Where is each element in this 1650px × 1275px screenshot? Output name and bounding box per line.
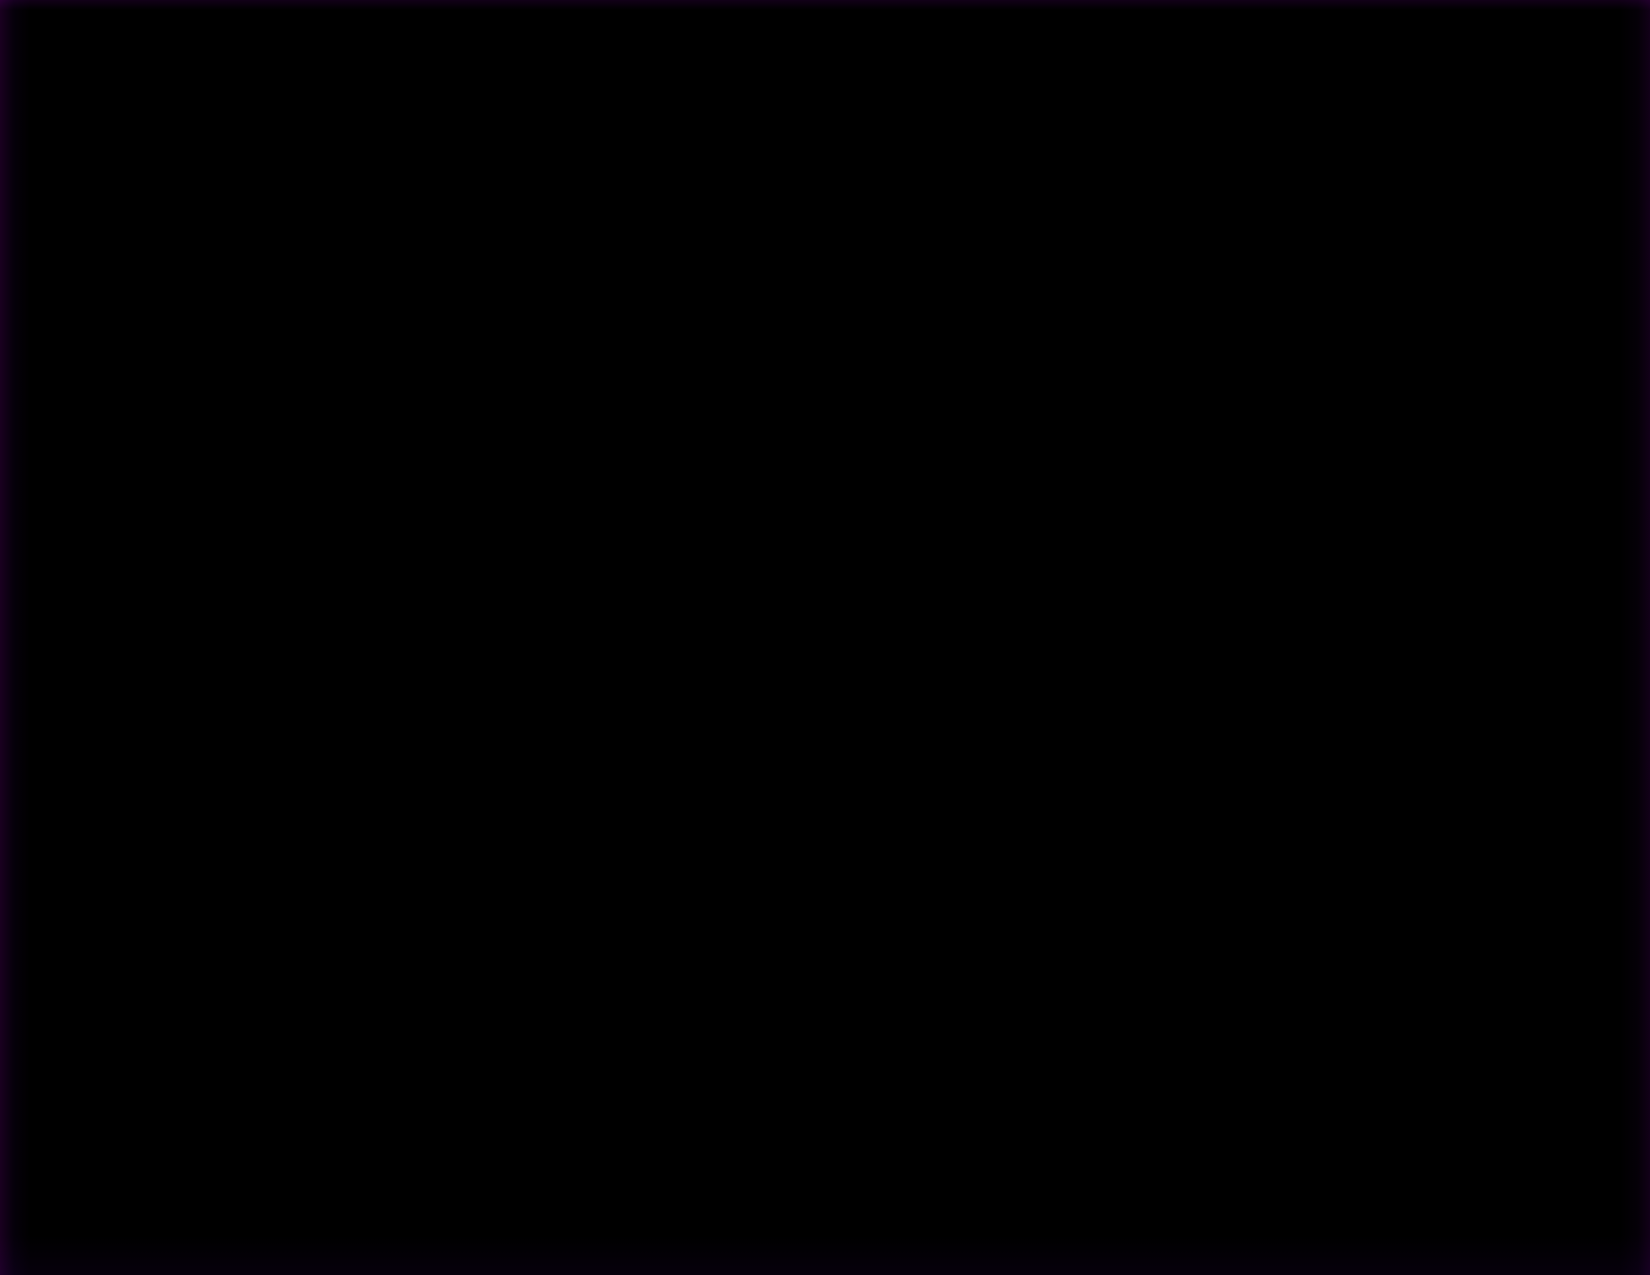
verse-reference: Genesis 9:12 (807, 483, 1244, 572)
top-bar-right-bevel (1546, 12, 1616, 86)
verse-attribution-inner: — Genesis 9:12 (NASB®) (726, 480, 1519, 572)
verse-line-1: God said, “This is the sign of the coven… (86, 120, 1359, 207)
bible-verse-slide: God said, “This is the sign of the coven… (0, 0, 1650, 1275)
verse-attribution: — Genesis 9:12 (NASB®) (86, 480, 1566, 572)
close-paren: ) (1498, 486, 1519, 571)
top-bar-cyan-rule (14, 8, 1636, 16)
top-bar-bottom-edge (56, 72, 1594, 80)
verse-line-4: for all successive generations; (86, 381, 1359, 468)
top-bar-cyan-streak (468, 50, 1474, 62)
verse-text-block: God said, “This is the sign of the coven… (86, 120, 1566, 572)
top-bar-cyan-block (147, 46, 209, 74)
open-paren: ( (1265, 486, 1286, 571)
slide-canvas: God said, “This is the sign of the coven… (14, 8, 1636, 1231)
top-bar-white-panel (62, 13, 1588, 75)
top-highlight-bar (14, 8, 1636, 86)
em-dash: — (726, 483, 786, 572)
translation-abbr: NASB (1286, 486, 1472, 571)
verse-line-3: and every living creature that is with y… (86, 294, 1359, 381)
verse-line-2: which I am making between Me and you (86, 207, 1359, 294)
registered-trademark-icon: ® (1472, 501, 1498, 545)
top-bar-left-bevel (34, 12, 104, 86)
